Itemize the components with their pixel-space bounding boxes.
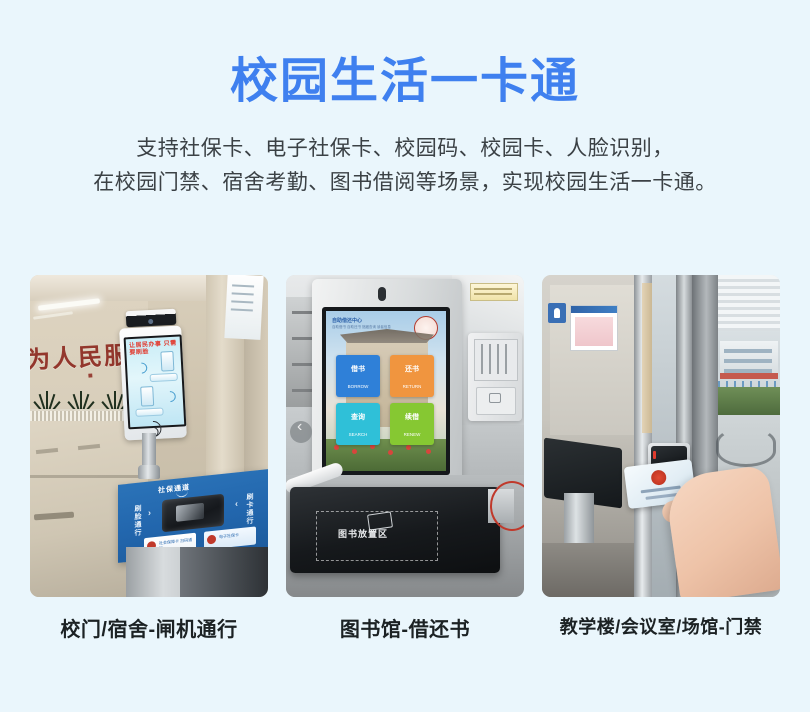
- national-emblem-icon: [650, 469, 667, 486]
- outdoor-signage: [720, 373, 778, 379]
- terminal-screen: 让居民办事 只需要刷脸: [124, 334, 187, 429]
- kiosk-touchscreen[interactable]: 自助借还中心 自助借书 自助还书 馆藏查询 读者信息 借书 BORROW: [326, 311, 446, 471]
- back-arrow-icon[interactable]: [290, 421, 312, 443]
- kiosk-camera-icon: [378, 287, 386, 301]
- page-subtitle: 支持社保卡、电子社保卡、校园码、校园卡、人脸识别， 在校园门禁、宿舍考勤、图书借…: [0, 132, 810, 200]
- gate-sticker-right-text: 电子社保卡: [219, 532, 239, 539]
- face-camera-icon: [126, 309, 177, 328]
- kiosk-tile-borrow-label: 借书: [336, 364, 380, 374]
- kiosk-tile-search-sub: SEARCH: [336, 432, 380, 437]
- kiosk-screen-bezel: 自助借还中心 自助借书 自助还书 馆藏查询 读者信息 借书 BORROW: [322, 307, 450, 475]
- tray-label: 图书放置区: [338, 527, 388, 540]
- page-title: 校园生活一卡通: [0, 52, 810, 110]
- outdoor-hedge: [718, 387, 780, 415]
- door-wood-strip: [642, 283, 652, 433]
- wall-poster: [570, 305, 618, 351]
- photo-library-kiosk: 自助借还中心 自助借书 自助还书 馆藏查询 读者信息 借书 BORROW: [286, 275, 524, 597]
- ceiling-blinds: [718, 275, 780, 331]
- face-recognition-terminal[interactable]: 让居民办事 只需要刷脸: [119, 325, 187, 440]
- scenario-card-library[interactable]: 自助借还中心 自助借书 自助还书 馆藏查询 读者信息 借书 BORROW: [286, 275, 524, 642]
- status-led-icon: [653, 451, 656, 459]
- subtitle-line-1: 支持社保卡、电子社保卡、校园码、校园卡、人脸识别，: [0, 132, 810, 166]
- floor-seam: [30, 475, 142, 478]
- photo-gate-turnstile: 为人民服务 ■: [30, 275, 268, 597]
- kiosk-tile-renew-label: 续借: [390, 412, 434, 422]
- library-sign: [470, 283, 518, 301]
- promo-page: 校园生活一卡通 支持社保卡、电子社保卡、校园码、校园卡、人脸识别， 在校园门禁、…: [0, 0, 810, 712]
- self-service-kiosk[interactable]: 自助借还中心 自助借书 自助还书 馆藏查询 读者信息 借书 BORROW: [312, 279, 462, 479]
- poster-header-bar: [571, 306, 617, 313]
- kiosk-tile-renew[interactable]: 续借 RENEW: [390, 403, 434, 445]
- poster-body: [575, 317, 613, 346]
- kiosk-tile-search-label: 查询: [336, 412, 380, 422]
- kiosk-screen-subheader: 自助借书 自助还书 馆藏查询 读者信息: [332, 325, 391, 330]
- caption-library: 图书馆-借还书: [286, 613, 524, 642]
- qr-scanner-window[interactable]: [162, 494, 224, 533]
- kiosk-tile-return-label: 还书: [390, 364, 434, 374]
- gate-arrow-right-icon: ‹: [235, 498, 238, 508]
- wall-stamp-icon: ■: [88, 371, 93, 380]
- kiosk-tile-return[interactable]: 还书 RETURN: [390, 355, 434, 397]
- gate-left-label: 刷脸通行: [132, 504, 142, 537]
- photo-door-access: [542, 275, 780, 597]
- side-panel-instructions: [474, 339, 518, 381]
- caption-access: 教学楼/会议室/场馆-门禁: [542, 613, 780, 639]
- scenario-card-row: 为人民服务 ■: [30, 275, 780, 642]
- gate-arrow-left-icon: ›: [148, 507, 151, 517]
- kiosk-screen-header: 自助借还中心: [332, 317, 362, 324]
- outdoor-railing: [716, 427, 776, 467]
- turnstile-base-shadow: [180, 547, 268, 597]
- emblem-icon-secondary: [207, 535, 216, 545]
- kiosk-tile-search[interactable]: 查询 SEARCH: [336, 403, 380, 445]
- indoor-floor: [542, 543, 638, 597]
- subtitle-line-2: 在校园门禁、宿舍考勤、图书借阅等场景，实现校园生活一卡通。: [0, 166, 810, 200]
- page-header: 校园生活一卡通 支持社保卡、电子社保卡、校园码、校园卡、人脸识别， 在校园门禁、…: [0, 0, 810, 200]
- kiosk-side-panel[interactable]: [468, 333, 522, 421]
- gate-right-label: 刷卡通行: [244, 493, 254, 526]
- kiosk-tile-return-sub: RETURN: [390, 384, 434, 389]
- door-glass: [652, 275, 676, 597]
- card-swipe-area[interactable]: [476, 387, 516, 415]
- kiosk-tile-borrow[interactable]: 借书 BORROW: [336, 355, 380, 397]
- caption-gate: 校门/宿舍-闸机通行: [30, 613, 268, 642]
- kiosk-tile-borrow-sub: BORROW: [336, 384, 380, 389]
- info-sign-icon: [548, 303, 566, 323]
- scenario-card-access[interactable]: 教学楼/会议室/场馆-门禁: [542, 275, 780, 642]
- wall-notice-paper: [224, 275, 263, 340]
- scenario-card-gate[interactable]: 为人民服务 ■: [30, 275, 268, 642]
- kiosk-tile-renew-sub: RENEW: [390, 432, 434, 437]
- terminal-pole-base: [138, 465, 160, 479]
